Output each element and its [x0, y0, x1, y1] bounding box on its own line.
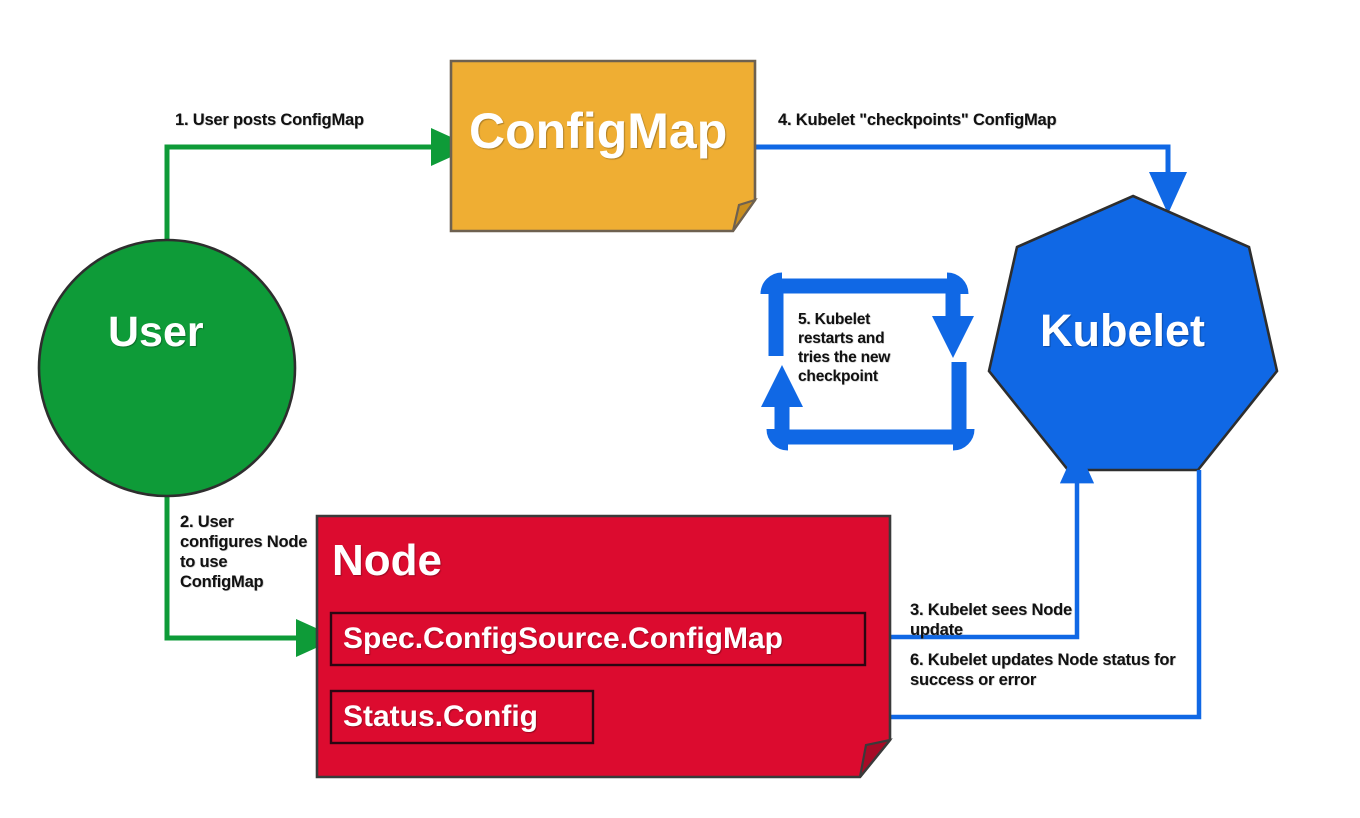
node-configmap[interactable] [451, 61, 755, 231]
node-node[interactable] [317, 516, 890, 777]
diagram-canvas: User ConfigMap Kubelet Node Spec.ConfigS… [0, 0, 1360, 818]
edge-label-1: 1. User posts ConfigMap [175, 110, 364, 130]
edge-label-6: 6. Kubelet updates Node status for succe… [910, 650, 1200, 690]
edge-4-kubelet-checkpoints-configmap [756, 147, 1168, 178]
edge-label-2: 2. User configures Node to use ConfigMap [180, 512, 310, 592]
edge-label-3: 3. Kubelet sees Node update [910, 600, 1080, 640]
node-kubelet[interactable] [989, 196, 1277, 470]
node-user[interactable] [39, 240, 295, 496]
edge-label-4: 4. Kubelet "checkpoints" ConfigMap [778, 110, 1056, 130]
edge-label-5: 5. Kubelet restarts and tries the new ch… [798, 310, 908, 386]
